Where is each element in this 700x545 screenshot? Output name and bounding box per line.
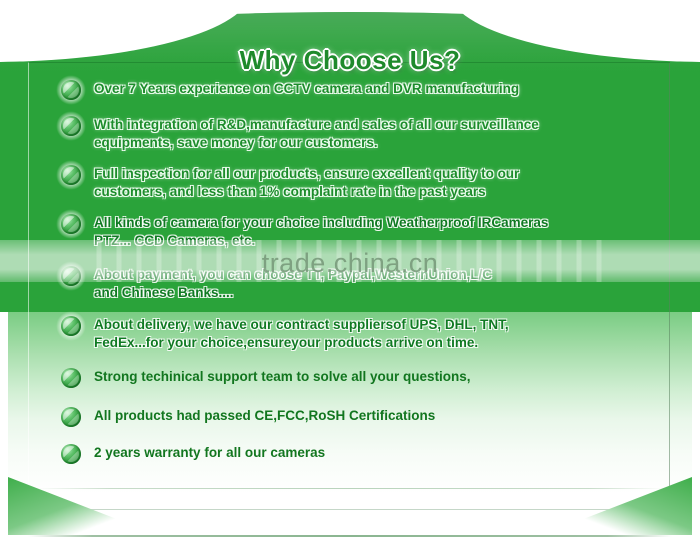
- list-item: Full inspection for all our products, en…: [58, 165, 658, 201]
- bottom-baseline-rule: [28, 535, 672, 537]
- bullet-sphere: [61, 80, 81, 100]
- list-item: All kinds of camera for your choice incl…: [58, 214, 658, 250]
- list-item-line: and Chinese Banks....: [94, 284, 658, 302]
- benefits-list: Over 7 Years experience on CCTV camera a…: [58, 78, 658, 480]
- green-sphere-bullet-icon: [58, 263, 84, 289]
- list-item-text: Strong techinical support team to solve …: [94, 368, 658, 386]
- list-item: Strong techinical support team to solve …: [58, 368, 658, 391]
- bullet-swirl: [63, 409, 79, 425]
- list-item: About delivery, we have our contract sup…: [58, 316, 658, 352]
- list-item-line: customers, and less than 1% complaint ra…: [94, 183, 658, 201]
- bullet-swirl: [63, 118, 79, 134]
- green-sphere-bullet-icon: [58, 313, 84, 339]
- bullet-swirl: [63, 216, 79, 232]
- bullet-sphere: [61, 214, 81, 234]
- list-item: About payment, you can choose TT, Paypal…: [58, 266, 658, 302]
- list-item-line: PTZ... CCD Cameras, etc.: [94, 232, 658, 250]
- green-sphere-bullet-icon: [58, 211, 84, 237]
- list-item-line: With integration of R&D,manufacture and …: [94, 116, 658, 134]
- list-item-line: FedEx...for your choice,ensureyour produ…: [94, 334, 658, 352]
- list-item-text: About delivery, we have our contract sup…: [94, 316, 658, 352]
- list-item-line: 2 years warranty for all our cameras: [94, 444, 658, 462]
- green-sphere-bullet-icon: [58, 441, 84, 467]
- list-item-line: All kinds of camera for your choice incl…: [94, 214, 658, 232]
- list-item-line: Over 7 Years experience on CCTV camera a…: [94, 80, 658, 98]
- list-item-line: Full inspection for all our products, en…: [94, 165, 658, 183]
- bullet-swirl: [63, 167, 79, 183]
- bullet-swirl: [63, 370, 79, 386]
- bullet-swirl: [63, 268, 79, 284]
- bullet-swirl: [63, 318, 79, 334]
- list-item-text: 2 years warranty for all our cameras: [94, 444, 658, 462]
- list-item-line: About delivery, we have our contract sup…: [94, 316, 658, 334]
- list-item: All products had passed CE,FCC,RoSH Cert…: [58, 407, 658, 430]
- bullet-sphere: [61, 407, 81, 427]
- list-item: 2 years warranty for all our cameras: [58, 444, 658, 467]
- green-sphere-bullet-icon: [58, 162, 84, 188]
- list-item-text: With integration of R&D,manufacture and …: [94, 116, 658, 152]
- list-item-line: Strong techinical support team to solve …: [94, 368, 658, 386]
- bullet-sphere: [61, 368, 81, 388]
- list-item-text: Full inspection for all our products, en…: [94, 165, 658, 201]
- green-sphere-bullet-icon: [58, 365, 84, 391]
- bullet-swirl: [63, 446, 79, 462]
- list-item-text: Over 7 Years experience on CCTV camera a…: [94, 80, 658, 98]
- list-item-line: All products had passed CE,FCC,RoSH Cert…: [94, 407, 658, 425]
- bullet-sphere: [61, 165, 81, 185]
- bullet-sphere: [61, 444, 81, 464]
- green-sphere-bullet-icon: [58, 404, 84, 430]
- list-item-line: equipments, save money for our customers…: [94, 134, 658, 152]
- list-item-line: About payment, you can choose TT, Paypal…: [94, 266, 658, 284]
- page-title: Why Choose Us?: [0, 45, 700, 76]
- why-choose-us-banner: Why Choose Us? Over 7 Years experience o…: [0, 0, 700, 545]
- bottom-divider-rule: [36, 488, 664, 489]
- list-item-text: All products had passed CE,FCC,RoSH Cert…: [94, 407, 658, 425]
- list-item-text: About payment, you can choose TT, Paypal…: [94, 266, 658, 302]
- bullet-sphere: [61, 116, 81, 136]
- list-item-text: All kinds of camera for your choice incl…: [94, 214, 658, 250]
- green-sphere-bullet-icon: [58, 77, 84, 103]
- bullet-sphere: [61, 316, 81, 336]
- green-sphere-bullet-icon: [58, 113, 84, 139]
- list-item: With integration of R&D,manufacture and …: [58, 116, 658, 152]
- bullet-sphere: [61, 266, 81, 286]
- list-item: Over 7 Years experience on CCTV camera a…: [58, 80, 658, 103]
- bullet-swirl: [63, 82, 79, 98]
